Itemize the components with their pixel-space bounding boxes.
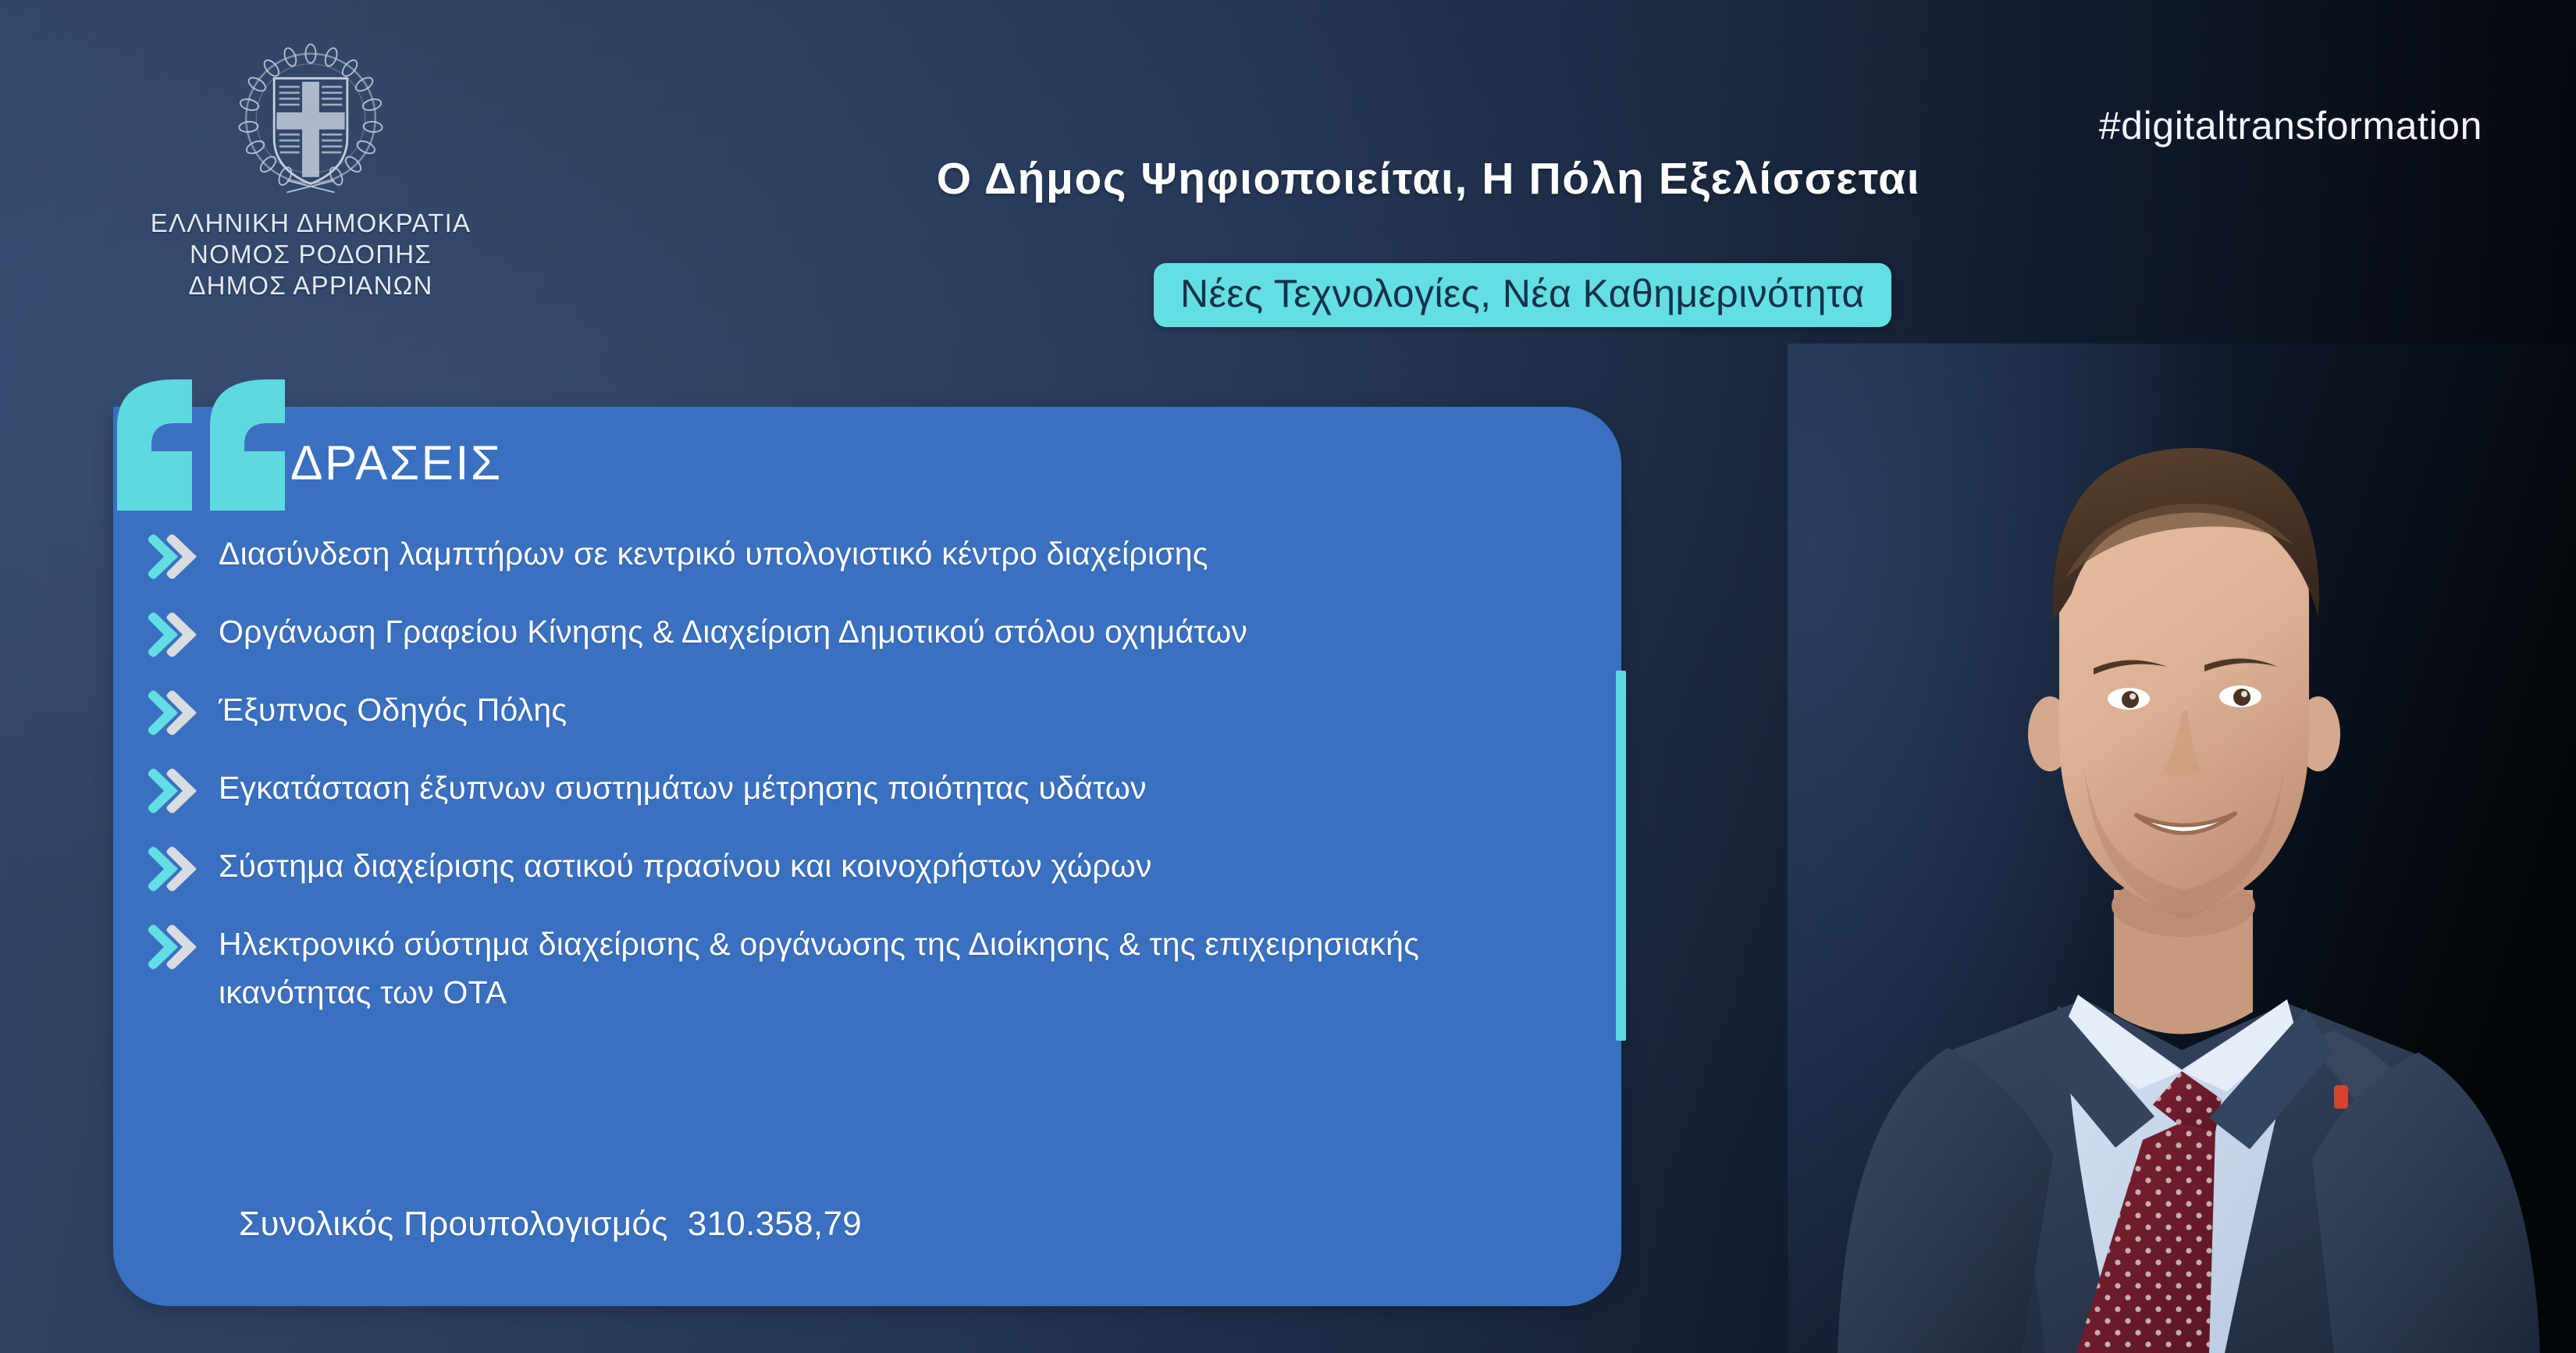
double-chevron-icon <box>148 534 201 579</box>
list-item-label: Οργάνωση Γραφείου Κίνησης & Διαχείριση Δ… <box>219 607 1247 656</box>
quotation-mark-icon <box>117 379 285 511</box>
double-chevron-icon <box>148 612 201 657</box>
portrait-illustration <box>1788 344 2576 1353</box>
list-item[interactable]: Έξυπνος Οδηγός Πόλης <box>148 685 1546 735</box>
total-budget-label: Συνολικός Προυπολογισμός <box>239 1205 668 1243</box>
list-item[interactable]: Σύστημα διαχείρισης αστικού πρασίνου και… <box>148 842 1546 892</box>
panel-heading: ΔΡΑΣΕΙΣ <box>290 436 503 491</box>
hashtag-label: #digitaltransformation <box>2099 103 2482 148</box>
list-item-label: Έξυπνος Οδηγός Πόλης <box>219 685 567 734</box>
emblem-line-prefecture: ΝΟΜΟΣ ΡΟΔΟΠΗΣ <box>116 239 506 270</box>
action-list: Διασύνδεση λαμπτήρων σε κεντρικό υπολογι… <box>148 529 1546 1045</box>
list-item[interactable]: Διασύνδεση λαμπτήρων σε κεντρικό υπολογι… <box>148 529 1546 579</box>
list-item-label: Σύστημα διαχείρισης αστικού πρασίνου και… <box>219 842 1152 890</box>
greek-republic-crest-icon <box>226 37 396 208</box>
page-title: Ο Δήμος Ψηφιοποιείται, Η Πόλη Εξελίσσετα… <box>882 153 1975 205</box>
slide-canvas: ΕΛΛΗΝΙΚΗ ΔΗΜΟΚΡΑΤΙΑ ΝΟΜΟΣ ΡΟΔΟΠΗΣ ΔΗΜΟΣ … <box>0 0 2576 1353</box>
list-item[interactable]: Οργάνωση Γραφείου Κίνησης & Διαχείριση Δ… <box>148 607 1546 657</box>
total-budget-value: 310.358,79 <box>688 1205 862 1243</box>
subtitle-badge: Νέες Τεχνολογίες, Νέα Καθημερινότητα <box>1154 263 1891 327</box>
list-item-label: Διασύνδεση λαμπτήρων σε κεντρικό υπολογι… <box>219 529 1208 578</box>
list-item-label: Ηλεκτρονικό σύστημα διαχείρισης & οργάνω… <box>219 920 1546 1017</box>
emblem-line-municipality: ΔΗΜΟΣ ΑΡΡΙΑΝΩΝ <box>116 270 506 301</box>
double-chevron-icon <box>148 846 201 892</box>
total-budget-row: Συνολικός Προυπολογισμός 310.358,79 <box>239 1205 862 1244</box>
list-item[interactable]: Εγκατάσταση έξυπνων συστημάτων μέτρησης … <box>148 764 1546 814</box>
list-item-label: Εγκατάσταση έξυπνων συστημάτων μέτρησης … <box>219 764 1147 812</box>
emblem-line-country: ΕΛΛΗΝΙΚΗ ΔΗΜΟΚΡΑΤΙΑ <box>116 208 506 239</box>
avatar <box>1788 344 2576 1353</box>
double-chevron-icon <box>148 690 201 735</box>
emblem-block: ΕΛΛΗΝΙΚΗ ΔΗΜΟΚΡΑΤΙΑ ΝΟΜΟΣ ΡΟΔΟΠΗΣ ΔΗΜΟΣ … <box>116 37 506 301</box>
list-item[interactable]: Ηλεκτρονικό σύστημα διαχείρισης & οργάνω… <box>148 920 1546 1017</box>
double-chevron-icon <box>148 768 201 814</box>
double-chevron-icon <box>148 924 201 970</box>
panel-accent-bar <box>1616 671 1626 1041</box>
